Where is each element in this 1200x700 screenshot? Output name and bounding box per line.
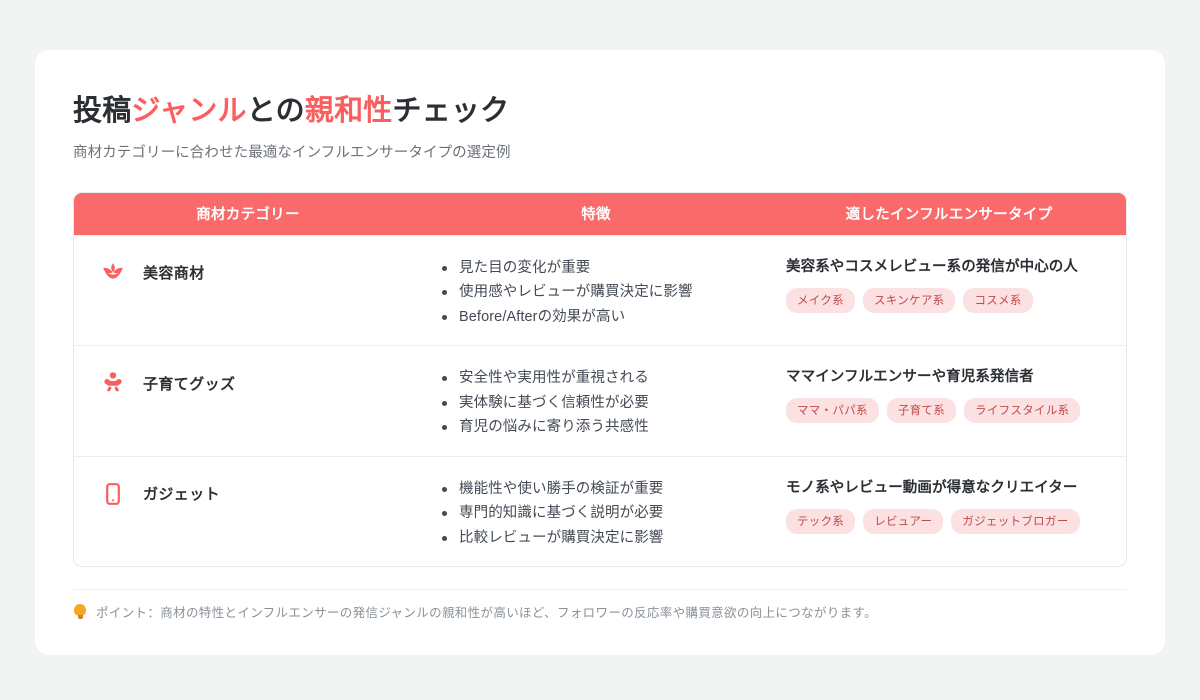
category-label: 美容商材 [143,262,205,283]
title-segment: チェック [393,95,510,127]
table-header-row: 商材カテゴリー 特徴 適したインフルエンサータイプ [74,193,1126,235]
category-cell: ガジェット [74,475,422,507]
page-title: 投稿ジャンルとの親和性チェック [73,94,1127,129]
tag-chip: ママ・パパ系 [786,398,879,423]
title-accent-segment: ジャンル [131,95,246,127]
lightbulb-icon [73,604,87,622]
page-root: 投稿ジャンルとの親和性チェック 商材カテゴリーに合わせた最適なインフルエンサータ… [0,0,1200,700]
feature-cell: 見た目の変化が重要 使用感やレビューが購買決定に影響 Before/Afterの… [422,254,770,330]
tag-chip: レビュアー [863,509,943,534]
feature-item: Before/Afterの効果が高い [440,305,770,330]
title-segment: との [247,95,305,127]
tag-group: テック系 レビュアー ガジェットブロガー [786,509,1127,534]
feature-list: 機能性や使い勝手の検証が重要 専門的知識に基づく説明が必要 比較レビューが購買決… [440,477,770,551]
feature-item: 比較レビューが購買決定に影響 [440,526,770,551]
column-header-influencer-type: 適したインフルエンサータイプ [770,203,1127,224]
title-accent-segment: 親和性 [305,95,393,127]
influencer-type-cell: モノ系やレビュー動画が得意なクリエイター テック系 レビュアー ガジェットブロガ… [770,475,1127,534]
feature-item: 機能性や使い勝手の検証が重要 [440,477,770,502]
table-row: 美容商材 見た目の変化が重要 使用感やレビューが購買決定に影響 Before/A… [74,235,1126,346]
tag-chip: ライフスタイル系 [964,398,1080,423]
tag-chip: 子育て系 [887,398,956,423]
category-label: ガジェット [143,483,220,504]
influencer-type-title: 美容系やコスメレビュー系の発信が中心の人 [786,256,1127,278]
tag-group: ママ・パパ系 子育て系 ライフスタイル系 [786,398,1127,423]
column-header-feature: 特徴 [422,203,770,224]
tag-group: メイク系 スキンケア系 コスメ系 [786,288,1127,313]
feature-item: 使用感やレビューが購買決定に影響 [440,280,770,305]
affinity-table: 商材カテゴリー 特徴 適したインフルエンサータイプ 美容商材 [73,192,1127,568]
feature-list: 見た目の変化が重要 使用感やレビューが購買決定に影響 Before/Afterの… [440,256,770,330]
feature-list: 安全性や実用性が重視される 実体験に基づく信頼性が必要 育児の悩みに寄り添う共感… [440,366,770,440]
footnote-text: ポイント：商材の特性とインフルエンサーの発信ジャンルの親和性が高いほど、フォロワ… [96,604,877,622]
influencer-type-title: ママインフルエンサーや育児系発信者 [786,366,1127,388]
influencer-type-title: モノ系やレビュー動画が得意なクリエイター [786,477,1127,499]
column-header-category: 商材カテゴリー [74,203,422,224]
influencer-type-cell: ママインフルエンサーや育児系発信者 ママ・パパ系 子育て系 ライフスタイル系 [770,364,1127,423]
mobile-phone-icon [100,481,126,507]
table-row: ガジェット 機能性や使い勝手の検証が重要 専門的知識に基づく説明が必要 比較レビ… [74,456,1126,567]
feature-item: 育児の悩みに寄り添う共感性 [440,415,770,440]
tag-chip: コスメ系 [963,288,1032,313]
feature-cell: 機能性や使い勝手の検証が重要 専門的知識に基づく説明が必要 比較レビューが購買決… [422,475,770,551]
tag-chip: テック系 [786,509,855,534]
table-row: 子育てグッズ 安全性や実用性が重視される 実体験に基づく信頼性が必要 育児の悩み… [74,345,1126,456]
feature-cell: 安全性や実用性が重視される 実体験に基づく信頼性が必要 育児の悩みに寄り添う共感… [422,364,770,440]
tag-chip: メイク系 [786,288,855,313]
feature-item: 見た目の変化が重要 [440,256,770,281]
category-cell: 美容商材 [74,254,422,286]
footnote: ポイント：商材の特性とインフルエンサーの発信ジャンルの親和性が高いほど、フォロワ… [73,589,1127,622]
category-cell: 子育てグッズ [74,364,422,396]
feature-item: 専門的知識に基づく説明が必要 [440,501,770,526]
category-label: 子育てグッズ [143,373,235,394]
page-subtitle: 商材カテゴリーに合わせた最適なインフルエンサータイプの選定例 [73,141,1127,162]
title-segment: 投稿 [73,95,131,127]
feature-item: 実体験に基づく信頼性が必要 [440,391,770,416]
influencer-type-cell: 美容系やコスメレビュー系の発信が中心の人 メイク系 スキンケア系 コスメ系 [770,254,1127,313]
baby-icon [100,370,126,396]
tag-chip: スキンケア系 [863,288,955,313]
lotus-flower-icon [100,260,126,286]
tag-chip: ガジェットブロガー [951,509,1079,534]
feature-item: 安全性や実用性が重視される [440,366,770,391]
content-card: 投稿ジャンルとの親和性チェック 商材カテゴリーに合わせた最適なインフルエンサータ… [35,50,1165,655]
